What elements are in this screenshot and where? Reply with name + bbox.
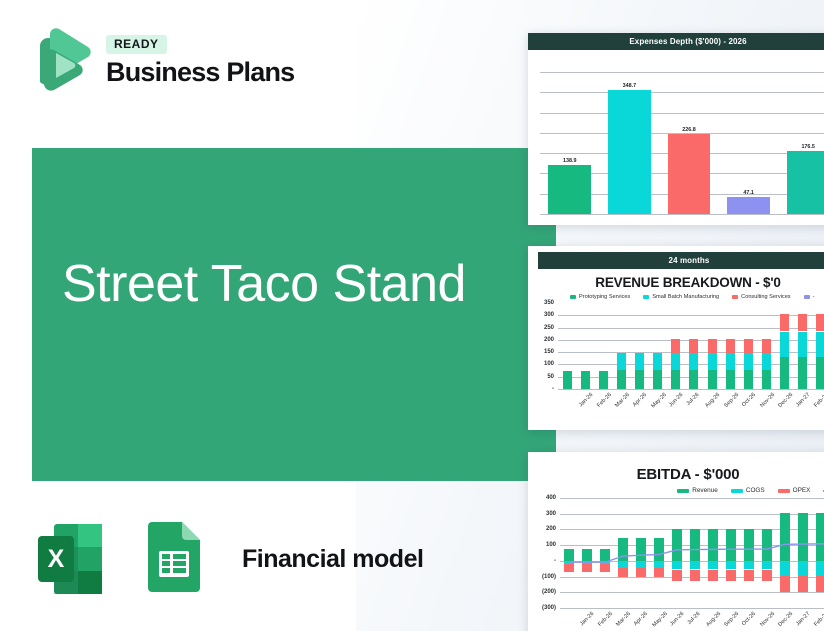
x-axis-tick: Feb-27: [814, 611, 824, 628]
brand-name: Business Plans: [106, 58, 294, 86]
x-axis-tick: Oct-26: [741, 392, 757, 408]
x-axis-tick: Nov-26: [759, 392, 776, 409]
x-axis-tick: May-26: [650, 392, 667, 409]
x-axis-tick: Aug-26: [706, 611, 723, 628]
y-axis-tick: (100): [528, 574, 556, 580]
stack-segment: [726, 370, 735, 389]
bar-value-label: 176.5: [787, 144, 824, 150]
x-axis-tick: Nov-26: [760, 611, 777, 628]
gridline: [560, 608, 824, 609]
stack-segment: [635, 370, 644, 389]
ready-badge: READY: [106, 35, 167, 54]
stack-segment: [635, 353, 644, 370]
x-axis-tick: Oct-26: [741, 611, 757, 627]
stack-segment: [726, 339, 735, 353]
bar: [787, 151, 824, 214]
gridline: [558, 389, 824, 390]
footer-label: Financial model: [242, 545, 423, 574]
play-triangle-logo-icon: [30, 26, 92, 96]
brand-lockup: READY Business Plans: [30, 26, 294, 96]
bar: [668, 134, 711, 215]
stack-segment: [689, 339, 698, 353]
stack-segment: [798, 332, 807, 358]
stack-segment: [744, 370, 753, 389]
stack-segment: [762, 353, 771, 370]
x-axis-tick: Dec-26: [778, 611, 795, 628]
stack-segment: [780, 357, 789, 389]
y-axis-tick: 200: [528, 337, 554, 343]
gridline: [540, 72, 824, 73]
stack-segment: [653, 370, 662, 389]
stack-segment: [816, 314, 824, 332]
legend-label: OPEX: [793, 487, 811, 494]
chart-title-expenses-depth: Expenses Depth ($'000) - 2026: [528, 33, 824, 50]
x-axis-tick: Jan-26: [578, 392, 594, 408]
gridline: [540, 214, 824, 215]
stack-segment: [671, 370, 680, 389]
x-axis-tick: Jul-26: [687, 611, 702, 626]
stack-segment: [816, 332, 824, 358]
bar: [608, 90, 651, 214]
legend-label: -: [813, 294, 815, 300]
x-axis-tick: Feb-27: [813, 392, 824, 409]
bar-value-label: 348.7: [608, 83, 651, 89]
legend-label: Small Batch Manufacturing: [652, 294, 719, 300]
x-axis-tick: Dec-26: [777, 392, 794, 409]
legend-label: Revenue: [692, 487, 718, 494]
y-axis-tick: 200: [528, 526, 556, 532]
stack-segment: [762, 370, 771, 389]
stack-segment: [780, 332, 789, 358]
chart-card-revenue-breakdown: 24 months REVENUE BREAKDOWN - $'0 Protot…: [528, 246, 824, 430]
stack-segment: [689, 353, 698, 370]
bar-value-label: 138.9: [548, 158, 591, 164]
gridline: [540, 113, 824, 114]
x-axis-tick: Feb-26: [598, 611, 615, 628]
stack-segment: [617, 370, 626, 389]
x-axis-tick: Apr-26: [633, 611, 649, 627]
ebitda-line-series: [560, 498, 824, 608]
y-axis-tick: 350: [528, 300, 554, 306]
stack-segment: [762, 339, 771, 353]
google-sheets-icon: [134, 518, 218, 600]
page-title: Street Taco Stand: [62, 254, 482, 314]
stack-segment: [581, 371, 590, 389]
x-axis-tick: Jan-26: [579, 611, 595, 627]
x-axis-tick: May-26: [652, 611, 669, 628]
y-axis-tick: (200): [528, 589, 556, 595]
y-axis-tick: -: [528, 386, 554, 392]
stack-segment: [708, 370, 717, 389]
chart-plot-expenses-depth: 138.9348.7226.847.1176.5: [540, 58, 824, 225]
legend-label: COGS: [746, 487, 765, 494]
chart-card-expenses-depth: Expenses Depth ($'000) - 2026 138.9348.7…: [528, 33, 824, 225]
stack-segment: [816, 357, 824, 389]
bar-value-label: 47.1: [727, 190, 770, 196]
chart-header-24-months: 24 months: [538, 252, 824, 269]
x-axis-tick: Sep-26: [723, 392, 740, 409]
chart-card-ebitda: EBITDA - $'000 Revenue COGS OPEX 0 40030…: [528, 452, 824, 631]
stack-segment: [744, 353, 753, 370]
poster-canvas: READY Business Plans Street Taco Stand X: [0, 0, 824, 631]
x-axis-tick: Jul-26: [686, 392, 701, 407]
y-axis-tick: 100: [528, 361, 554, 367]
x-axis-tick: Jan-27: [795, 611, 811, 627]
gridline: [540, 92, 824, 93]
x-axis-tick: Aug-26: [705, 392, 722, 409]
stack-segment: [780, 314, 789, 332]
stack-segment: [599, 371, 608, 389]
x-axis-tick: Apr-26: [632, 392, 648, 408]
stack-segment: [798, 357, 807, 389]
chart-legend-revenue-breakdown: Prototyping Services Small Batch Manufac…: [528, 292, 824, 300]
y-axis-tick: (300): [528, 605, 556, 611]
y-axis-tick: 300: [528, 312, 554, 318]
svg-text:X: X: [48, 545, 65, 573]
x-axis-tick: Mar-26: [614, 392, 631, 409]
y-axis-tick: 150: [528, 349, 554, 355]
bar: [727, 197, 770, 214]
microsoft-excel-icon: X: [32, 518, 116, 600]
stack-segment: [671, 339, 680, 353]
stack-segment: [689, 370, 698, 389]
y-axis-tick: 400: [528, 495, 556, 501]
bar-value-label: 226.8: [668, 127, 711, 133]
y-axis-tick: 100: [528, 542, 556, 548]
hero-banner: Street Taco Stand: [32, 148, 556, 481]
bar: [548, 165, 591, 214]
y-axis-tick: -: [528, 558, 556, 564]
chart-title-revenue-breakdown: REVENUE BREAKDOWN - $'0: [528, 269, 824, 292]
stack-segment: [708, 353, 717, 370]
chart-legend-ebitda: Revenue COGS OPEX 0: [528, 485, 824, 494]
footer-row: X Financial model: [32, 518, 423, 600]
y-axis-tick: 250: [528, 325, 554, 331]
x-axis-tick: Jun-26: [668, 392, 684, 408]
stack-segment: [726, 353, 735, 370]
stack-segment: [744, 339, 753, 353]
y-axis-tick: 300: [528, 511, 556, 517]
x-axis-tick: Jan-27: [795, 392, 811, 408]
legend-label: Consulting Services: [741, 294, 790, 300]
stack-segment: [563, 371, 572, 389]
stack-segment: [617, 353, 626, 370]
x-axis-tick: Sep-26: [724, 611, 741, 628]
stack-segment: [671, 353, 680, 370]
x-axis-tick: Jun-26: [669, 611, 685, 627]
stack-segment: [653, 353, 662, 370]
chart-plot-revenue-breakdown: 35030025020015010050-Jan-26Feb-26Mar-26A…: [558, 303, 824, 389]
x-axis-tick: Feb-26: [596, 392, 613, 409]
y-axis-tick: 50: [528, 374, 554, 380]
legend-label: Prototyping Services: [579, 294, 630, 300]
chart-plot-ebitda: 400300200100-(100)(200)(300)Jan-26Feb-26…: [560, 498, 824, 608]
chart-title-ebitda: EBITDA - $'000: [528, 452, 824, 485]
stack-segment: [798, 314, 807, 332]
stack-segment: [708, 339, 717, 353]
x-axis-tick: Mar-26: [616, 611, 633, 628]
